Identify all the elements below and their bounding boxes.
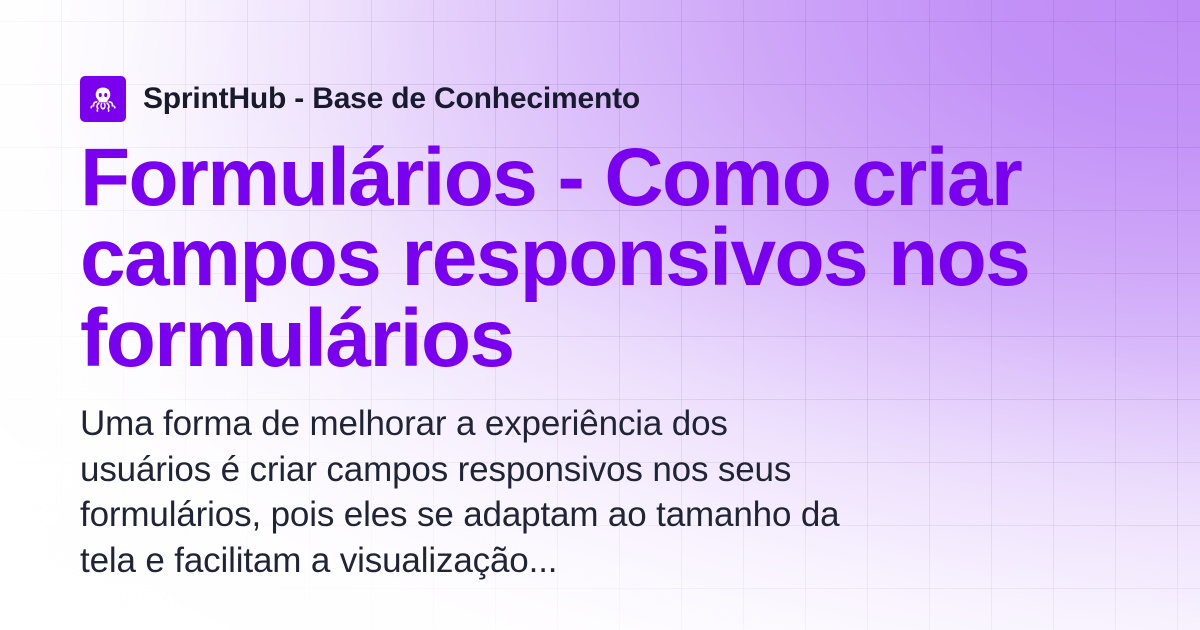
og-preview-card: SprintHub - Base de Conhecimento Formulá…: [0, 0, 1200, 630]
article-description: Uma forma de melhorar a experiência dos …: [80, 401, 840, 583]
brand-logo-badge: [80, 76, 126, 122]
octopus-icon: [87, 83, 119, 115]
brand-row: SprintHub - Base de Conhecimento: [80, 76, 1160, 122]
brand-name: SprintHub - Base de Conhecimento: [143, 84, 640, 114]
page-title: Formulários - Como criar campos responsi…: [80, 138, 1115, 379]
card-content: SprintHub - Base de Conhecimento Formulá…: [80, 0, 1160, 630]
